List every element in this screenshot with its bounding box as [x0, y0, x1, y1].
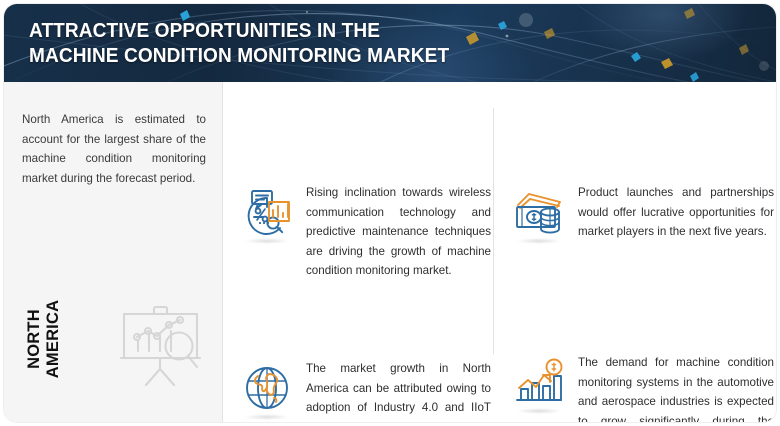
money-cash-coins-icon — [512, 186, 566, 240]
cell-text: The demand for machine condition monitor… — [578, 353, 774, 422]
growth-bar-chart-dollar-icon — [512, 356, 566, 410]
header-banner: ATTRACTIVE OPPORTUNITIES IN THE MACHINE … — [4, 4, 776, 82]
icon-shadow — [517, 408, 561, 414]
left-panel-text: North America is estimated to account fo… — [22, 110, 206, 188]
infographic-card: ATTRACTIVE OPPORTUNITIES IN THE MACHINE … — [4, 4, 776, 422]
cell-text: Rising inclination towards wireless comm… — [306, 183, 491, 281]
cell-text: The market growth in North America can b… — [306, 359, 491, 422]
page-title: ATTRACTIVE OPPORTUNITIES IN THE MACHINE … — [29, 18, 680, 68]
analytics-search-icon — [240, 186, 294, 240]
globe-icon — [240, 362, 294, 416]
cell-text: Product launches and partnerships would … — [578, 183, 774, 242]
region-label-text: NORTH AMERICA — [25, 269, 63, 409]
divider-left — [222, 82, 223, 422]
divider-middle — [493, 108, 494, 354]
icon-shadow — [517, 238, 561, 244]
icon-shadow — [245, 414, 289, 420]
presentation-chart-magnifier-icon — [116, 304, 210, 390]
content-area: North America is estimated to account fo… — [4, 82, 776, 422]
icon-shadow — [245, 238, 289, 244]
